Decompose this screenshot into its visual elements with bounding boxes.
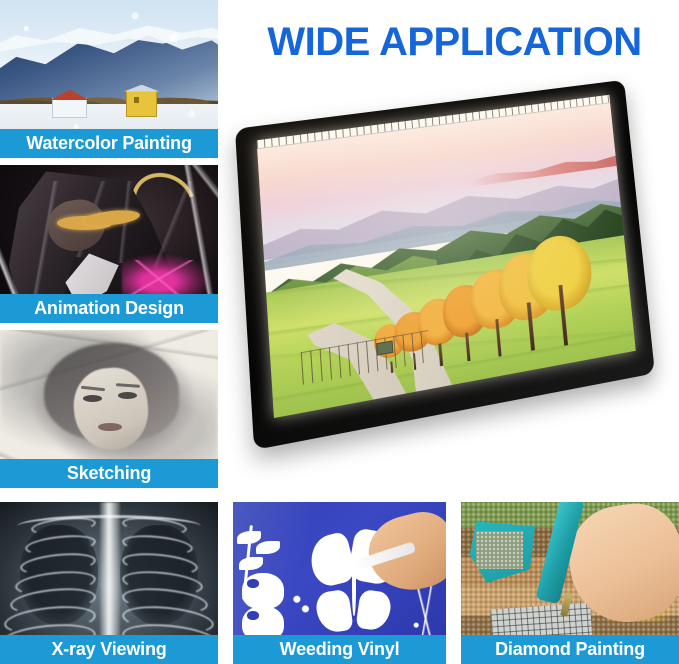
panel-caption-watercolor: Watercolor Painting xyxy=(0,129,218,158)
feature-panel-watercolor[interactable]: Watercolor Painting xyxy=(0,0,218,158)
feature-panel-diamond[interactable]: Diamond Painting xyxy=(461,502,679,664)
wide-application-banner: WIDE APPLICATION Watercolor Painting xyxy=(0,0,679,664)
landscape-artwork xyxy=(257,103,636,418)
feature-panel-sketching[interactable]: Sketching xyxy=(0,330,218,488)
product-showcase xyxy=(228,82,679,452)
page-title: WIDE APPLICATION xyxy=(230,18,679,66)
panel-caption-vinyl: Weeding Vinyl xyxy=(233,635,446,664)
panel-caption-animation: Animation Design xyxy=(0,294,218,323)
panel-caption-sketching: Sketching xyxy=(0,459,218,488)
light-pad-screen xyxy=(257,95,636,418)
feature-panel-animation[interactable]: Animation Design xyxy=(0,165,218,323)
feature-panel-xray[interactable]: X-ray Viewing xyxy=(0,502,218,664)
panel-caption-diamond: Diamond Painting xyxy=(461,635,679,664)
panel-caption-xray: X-ray Viewing xyxy=(0,635,218,664)
feature-panel-vinyl[interactable]: Weeding Vinyl xyxy=(233,502,446,664)
tree-trunk xyxy=(465,332,470,361)
tree xyxy=(524,237,598,351)
led-light-pad[interactable] xyxy=(235,80,655,450)
tree-trunk xyxy=(439,343,443,365)
